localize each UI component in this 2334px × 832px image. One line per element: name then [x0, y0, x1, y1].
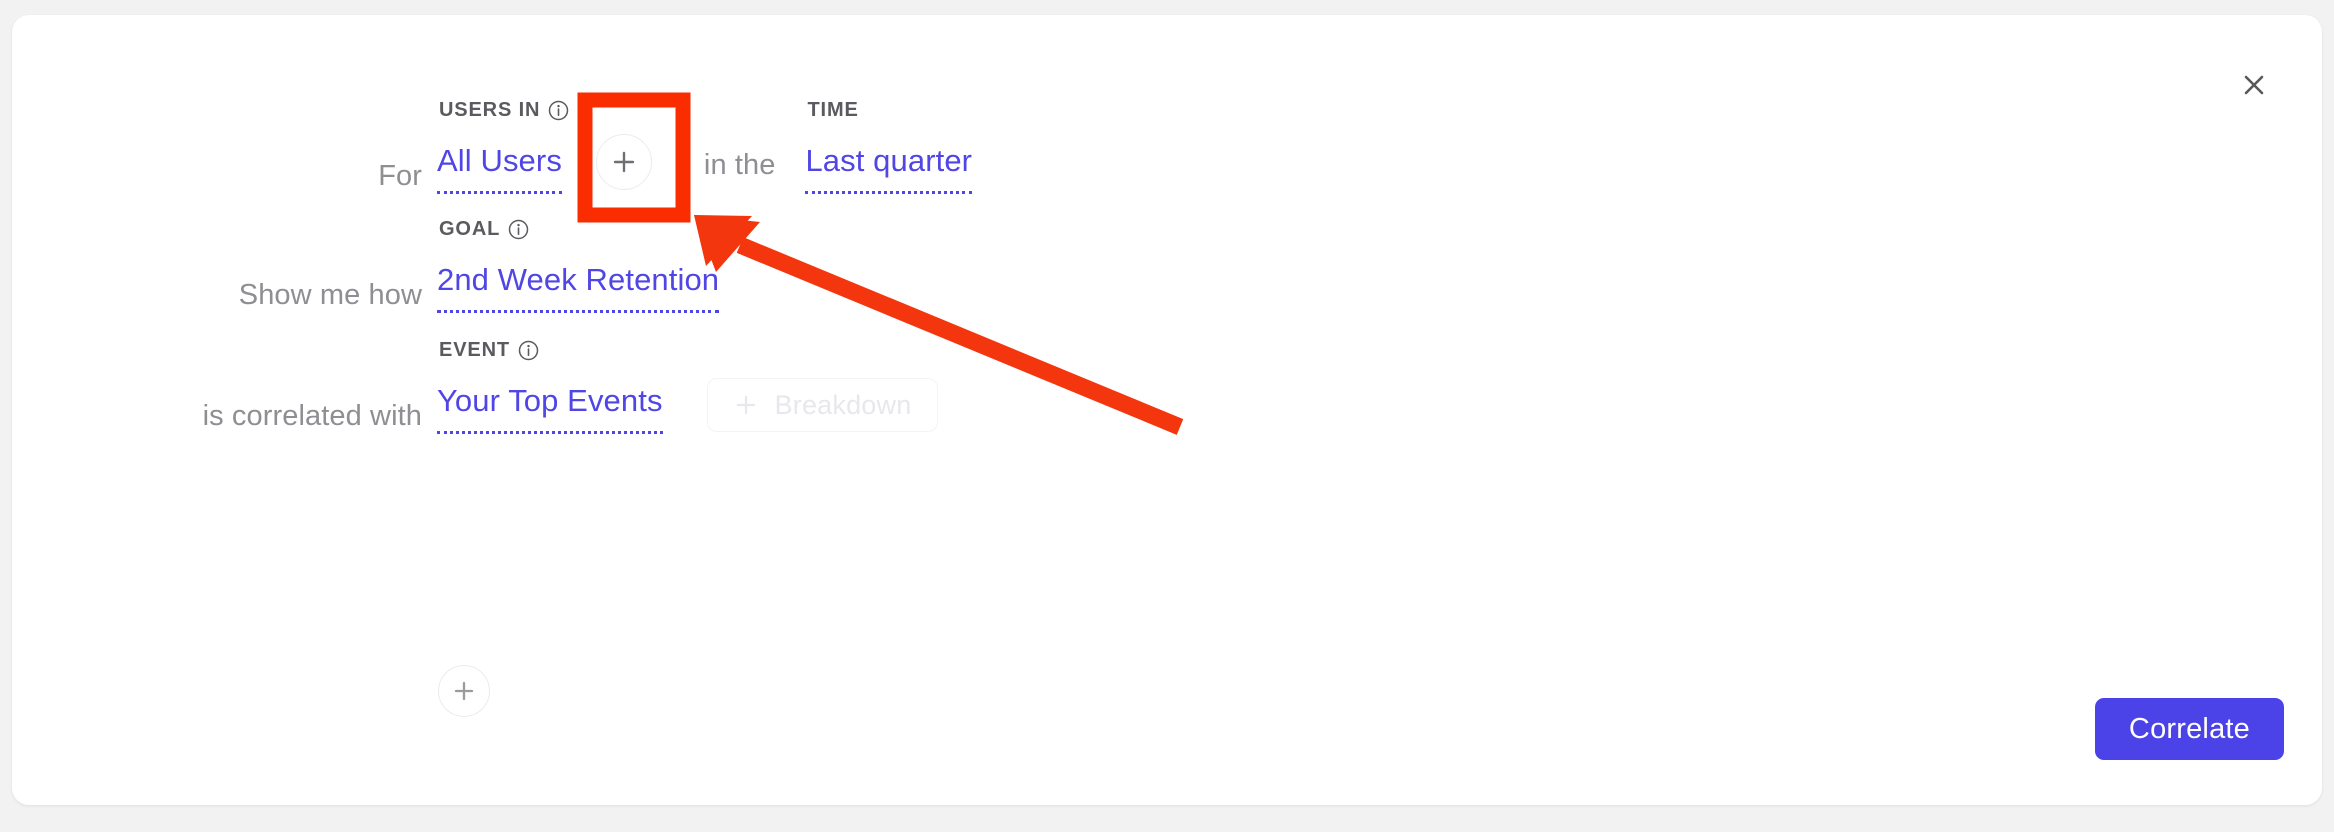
- inline-add-wrap: [562, 134, 674, 194]
- field-value-event[interactable]: Your Top Events: [437, 383, 663, 434]
- info-icon[interactable]: [518, 340, 539, 361]
- plus-icon: [611, 149, 637, 175]
- field-label-goal: GOAL: [439, 218, 529, 241]
- field-label-text: GOAL: [439, 218, 500, 241]
- breakdown-label: Breakdown: [775, 390, 912, 421]
- row-prefix-show-me-how: Show me how: [12, 277, 437, 313]
- query-row-users: For USERS IN All Users: [12, 138, 972, 194]
- field-event: EVENT Your Top Events: [437, 383, 663, 434]
- field-time: TIME Last quarter: [805, 143, 972, 194]
- close-icon: [2239, 70, 2269, 100]
- row-prefix-for: For: [12, 158, 437, 194]
- field-value-goal[interactable]: 2nd Week Retention: [437, 262, 719, 313]
- field-value-users-in[interactable]: All Users: [437, 143, 562, 194]
- field-label-users-in: USERS IN: [439, 99, 569, 122]
- correlate-button[interactable]: Correlate: [2095, 698, 2284, 760]
- plus-icon: [452, 679, 476, 703]
- field-label-event: EVENT: [439, 339, 539, 362]
- field-label-text: EVENT: [439, 339, 510, 362]
- add-query-row-button[interactable]: [438, 665, 490, 717]
- row-prefix-is-correlated-with: is correlated with: [12, 398, 437, 434]
- field-value-time[interactable]: Last quarter: [805, 143, 972, 194]
- correlation-query-card: For USERS IN All Users: [12, 15, 2322, 805]
- field-goal: GOAL 2nd Week Retention: [437, 262, 719, 313]
- field-label-time: TIME: [807, 99, 858, 122]
- query-row-goal: Show me how GOAL 2nd Week Retention: [12, 257, 719, 313]
- info-icon[interactable]: [548, 100, 569, 121]
- field-users-in: USERS IN All Users: [437, 143, 562, 194]
- add-breakdown-button[interactable]: Breakdown: [707, 378, 939, 432]
- query-row-event: is correlated with EVENT Your Top Events: [12, 378, 938, 434]
- row-connector-in-the: in the: [674, 147, 806, 194]
- plus-icon: [734, 393, 758, 417]
- field-label-text: USERS IN: [439, 99, 540, 122]
- add-users-filter-button[interactable]: [596, 134, 652, 190]
- field-label-text: TIME: [807, 99, 858, 122]
- close-button[interactable]: [2234, 65, 2274, 105]
- info-icon[interactable]: [508, 219, 529, 240]
